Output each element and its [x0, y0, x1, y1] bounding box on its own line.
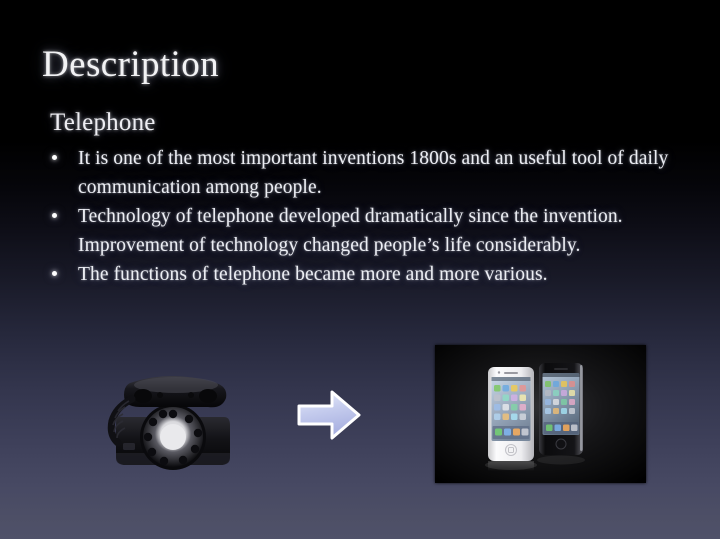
right-arrow-icon — [296, 388, 362, 442]
bullet-point-icon — [52, 271, 57, 276]
smartphones-icon — [435, 345, 646, 483]
rotary-telephone-image — [96, 355, 246, 480]
presentation-slide: Description Telephone It is one of the m… — [0, 0, 720, 539]
page-title: Description — [42, 43, 219, 87]
list-item: Technology of telephone developed dramat… — [44, 202, 674, 260]
bullet-point-icon — [52, 213, 57, 218]
bullet-list: It is one of the most important inventio… — [44, 144, 674, 289]
bullet-point-icon — [52, 155, 57, 160]
arrow-shape — [296, 388, 362, 442]
smartphones-image — [435, 345, 646, 483]
list-item: It is one of the most important inventio… — [44, 144, 674, 202]
media-row — [0, 330, 720, 510]
list-item-text: It is one of the most important inventio… — [78, 144, 674, 202]
list-item-text: Technology of telephone developed dramat… — [78, 202, 674, 260]
rotary-telephone-icon — [96, 355, 246, 480]
slide-subtitle: Telephone — [50, 108, 156, 138]
list-item-text: The functions of telephone became more a… — [78, 260, 674, 289]
list-item: The functions of telephone became more a… — [44, 260, 674, 289]
